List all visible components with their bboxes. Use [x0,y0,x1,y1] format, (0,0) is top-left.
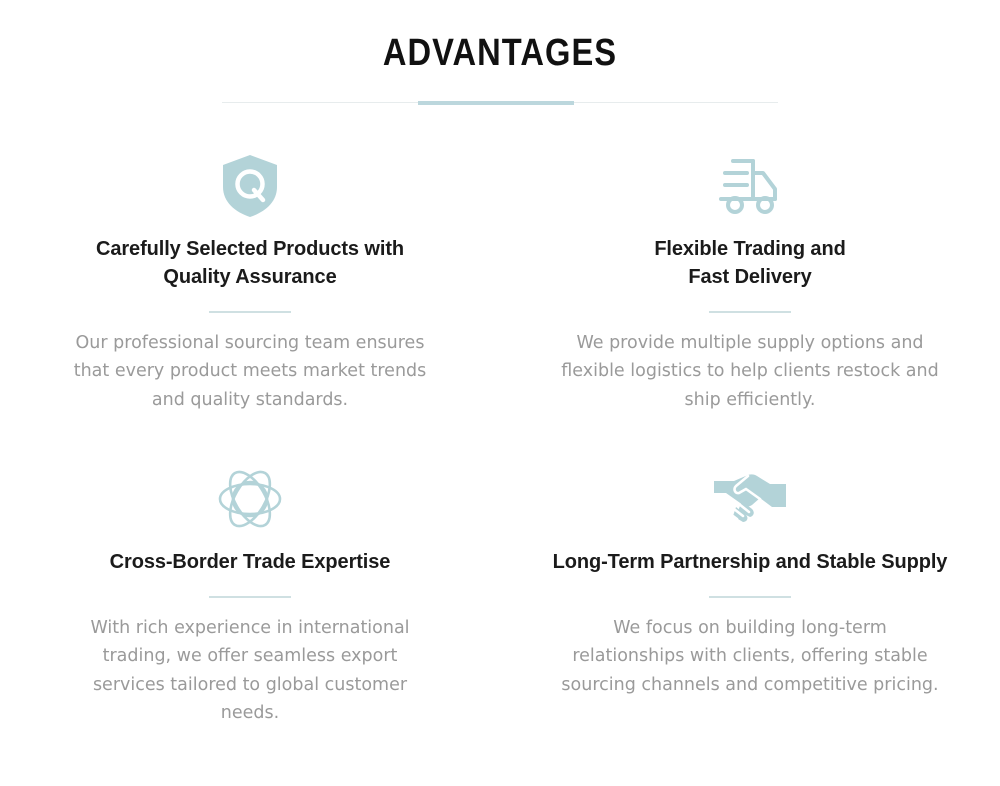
atom-orbit-icon [14,462,486,536]
advantage-card-grid: Carefully Selected Products with Quality… [0,105,1000,727]
advantage-card-title: Cross-Border Trade Expertise [14,548,486,576]
section-header: ADVANTAGES [0,0,1000,105]
advantage-card-title: Flexible Trading and Fast Delivery [514,235,986,291]
advantage-card-text: With rich experience in international tr… [64,614,436,727]
advantage-card-title: Long-Term Partnership and Stable Supply [515,548,985,576]
advantages-section: ADVANTAGES Carefully Selected Products w… [0,0,1000,786]
card-divider [709,311,791,313]
card-divider [209,311,291,313]
card-divider [709,596,791,598]
advantage-card-quality: Carefully Selected Products with Quality… [0,105,500,414]
advantage-card-cross-border: Cross-Border Trade Expertise With rich e… [0,414,500,727]
advantage-card-text: We provide multiple supply options and f… [534,329,966,414]
delivery-truck-icon [514,149,986,223]
page-title: ADVANTAGES [70,34,930,72]
title-rule [222,101,778,105]
advantage-card-delivery: Flexible Trading and Fast Delivery We pr… [500,105,1000,414]
advantage-card-text: Our professional sourcing team ensures t… [50,329,450,414]
advantage-card-partnership: Long-Term Partnership and Stable Supply … [500,414,1000,727]
advantage-card-title: Carefully Selected Products with Quality… [14,235,486,291]
title-rule-accent [418,101,574,105]
card-divider [209,596,291,598]
advantage-card-text: We focus on building long-term relations… [534,614,966,699]
handshake-icon [514,462,986,536]
shield-quality-icon [14,149,486,223]
